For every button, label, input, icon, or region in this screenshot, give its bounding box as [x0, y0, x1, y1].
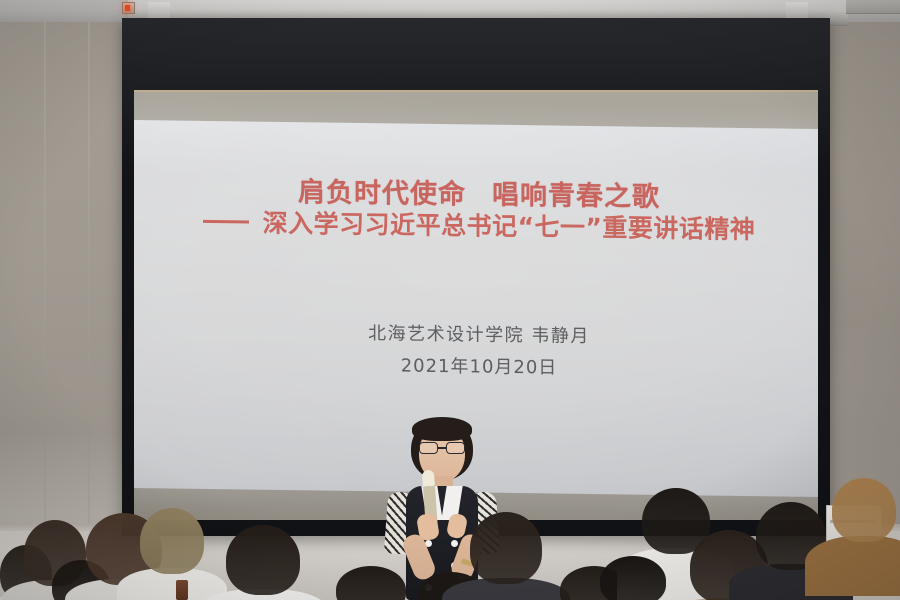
audience-head-9	[470, 512, 542, 584]
em-dash-rule	[203, 219, 249, 223]
wall-seam-left	[44, 0, 46, 540]
audience-head-5	[140, 508, 204, 574]
desk-cup	[176, 580, 188, 600]
slide-date: 2021年10月20日	[134, 348, 818, 383]
audience-head-14	[832, 478, 896, 542]
vest-button	[451, 540, 458, 547]
audience-head-15	[600, 556, 666, 600]
audience-head-14-shoulders	[805, 536, 900, 596]
alarm-light-icon	[122, 2, 135, 14]
ceiling-rail-right	[846, 0, 900, 14]
glasses-bridge	[438, 447, 446, 449]
slide-title-line-2: 深入学习习近平总书记“七一”重要讲话精神	[134, 202, 818, 247]
speaker-fringe	[412, 417, 472, 441]
wall-panel-right	[826, 0, 900, 540]
slide-subtitle-text: 深入学习习近平总书记“七一”重要讲话精神	[263, 209, 756, 244]
slide-byline: 北海艺术设计学院 韦静月	[134, 316, 818, 351]
wall-seam-left-2	[88, 0, 90, 540]
lecture-hall-photo: 肩负时代使命唱响青春之歌 深入学习习近平总书记“七一”重要讲话精神 北海艺术设计…	[0, 0, 900, 600]
glasses-icon	[418, 442, 466, 454]
glasses-lens-left	[419, 442, 438, 454]
audience-head-6	[226, 525, 300, 595]
glasses-lens-right	[446, 442, 465, 454]
presentation-slide: 肩负时代使命唱响青春之歌 深入学习习近平总书记“七一”重要讲话精神 北海艺术设计…	[134, 90, 818, 467]
